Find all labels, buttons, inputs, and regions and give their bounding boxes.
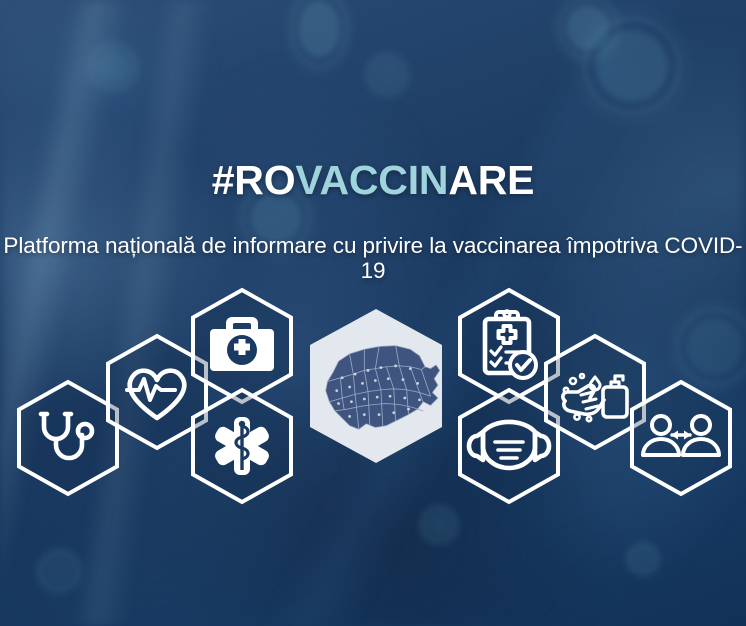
virus-particle-icon (298, 0, 340, 58)
subtitle-container: Platforma națională de informare cu priv… (0, 234, 746, 284)
page-title: #ROVACCINARE (212, 160, 535, 201)
title-segment-suffix: ARE (448, 157, 534, 203)
hex-cell-star-of-life[interactable] (188, 387, 296, 505)
virus-particle-icon (96, 50, 130, 84)
headline-container: #ROVACCINARE (0, 160, 746, 201)
hex-cell-social-distancing[interactable] (627, 379, 735, 497)
virus-particle-icon (596, 30, 668, 102)
title-segment-accent: VACCIN (295, 157, 448, 203)
rovaccinare-hero-banner: #ROVACCINARE Platforma națională de info… (0, 0, 746, 626)
virus-particle-icon (44, 556, 74, 586)
hex-cell-romania-map[interactable] (300, 303, 452, 469)
virus-particle-icon (372, 60, 402, 90)
virus-particle-icon (426, 512, 452, 538)
page-subtitle: Platforma națională de informare cu priv… (0, 234, 746, 284)
virus-particle-icon (632, 548, 654, 570)
title-segment-prefix: #RO (212, 157, 296, 203)
virus-particle-icon (686, 318, 744, 376)
